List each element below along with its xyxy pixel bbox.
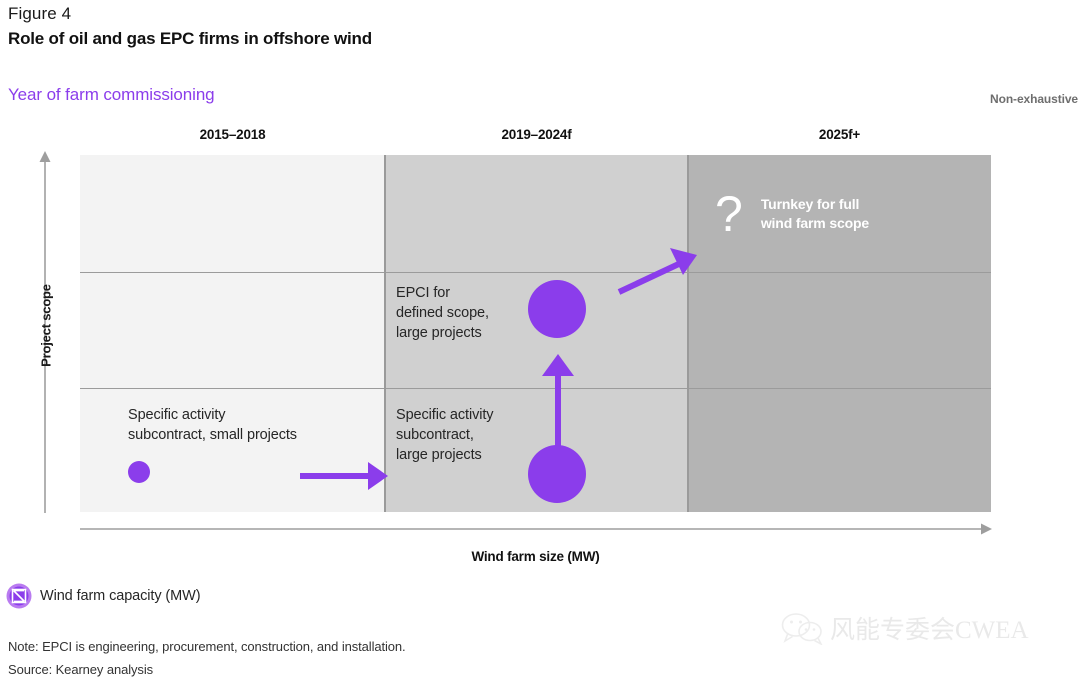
commissioning-axis-label: Year of farm commissioning <box>8 85 215 105</box>
legend: Wind farm capacity (MW) <box>6 583 200 609</box>
y-axis-label: Project scope <box>39 266 54 386</box>
column-header-2025f-plus: 2025f+ <box>688 127 991 142</box>
cell-turnkey-label: Turnkey for full wind farm scope <box>761 195 869 233</box>
question-mark-icon: ? <box>715 189 743 239</box>
watermark: 风能专委会CWEA <box>780 610 1029 646</box>
row-divider-top <box>80 272 991 273</box>
bubble-large-2019-2024f-mid <box>528 280 586 338</box>
cell-specific-activity-small: Specific activity subcontract, small pro… <box>128 405 297 445</box>
non-exhaustive-badge: Non-exhaustive <box>990 92 1078 106</box>
source-text: Source: Kearney analysis <box>8 662 153 677</box>
figure-label: Figure 4 <box>8 4 71 24</box>
wind-farm-capacity-icon <box>6 583 32 609</box>
page-title: Role of oil and gas EPC firms in offshor… <box>8 29 372 49</box>
column-header-2019-2024f: 2019–2024f <box>385 127 688 142</box>
bubble-large-2019-2024f-low <box>528 445 586 503</box>
cell-epci-defined-scope: EPCI for defined scope, large projects <box>396 283 489 343</box>
row-divider-bottom <box>80 388 991 389</box>
column-header-2015-2018: 2015–2018 <box>80 127 385 142</box>
x-axis <box>80 524 992 535</box>
cell-specific-activity-large: Specific activity subcontract, large pro… <box>396 405 493 465</box>
x-axis-label: Wind farm size (MW) <box>80 549 991 564</box>
column-divider-2 <box>687 155 689 512</box>
matrix-column-2015-2018 <box>80 155 385 512</box>
cell-turnkey-full-scope: ? Turnkey for full wind farm scope <box>715 189 869 239</box>
wechat-icon <box>780 611 824 645</box>
legend-label-wind-farm-capacity: Wind farm capacity (MW) <box>40 588 200 604</box>
column-divider-1 <box>384 155 386 512</box>
note-text: Note: EPCI is engineering, procurement, … <box>8 639 406 654</box>
bubble-small-2015-2018 <box>128 461 150 483</box>
watermark-text: 风能专委会CWEA <box>830 610 1029 646</box>
matrix-plot-area: ? Turnkey for full wind farm scope EPCI … <box>80 155 991 512</box>
